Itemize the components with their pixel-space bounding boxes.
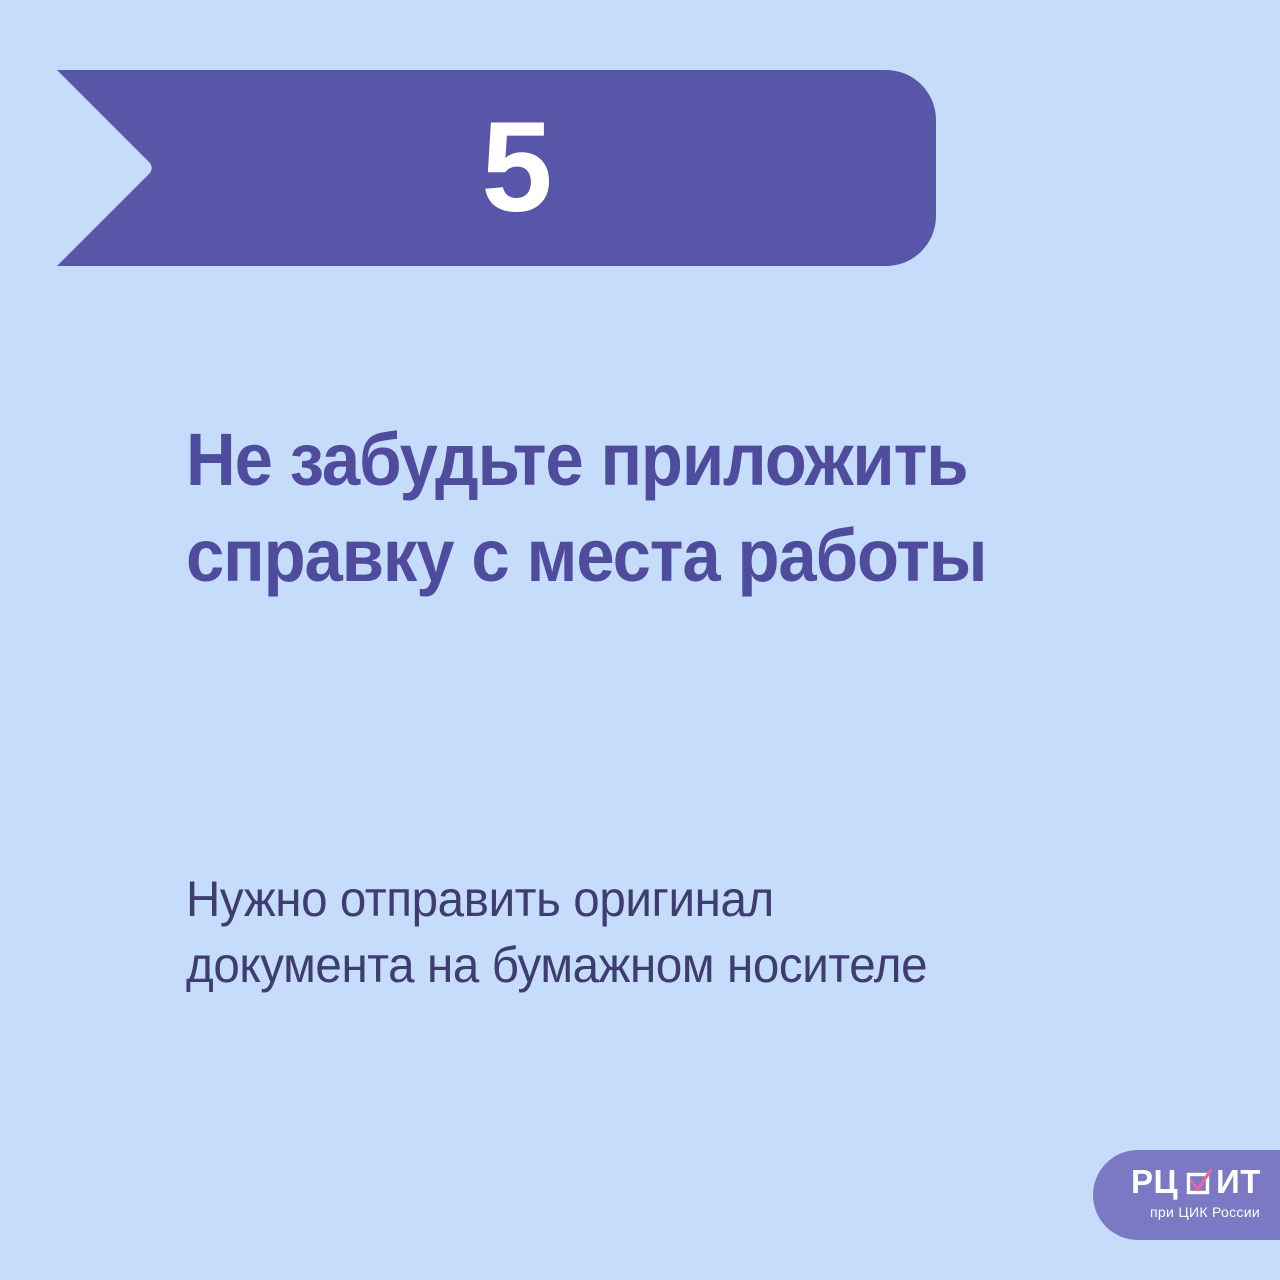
logo-wordmark-suffix: ИТ — [1216, 1164, 1261, 1200]
logo-wordmark: РЦ ИТ — [1131, 1164, 1279, 1200]
step-number-banner: 5 — [57, 70, 936, 266]
page-title-line-1: Не забудьте приложить — [186, 412, 1023, 508]
logo-tagline: при ЦИК России — [1131, 1203, 1279, 1221]
page-subtitle: Нужно отправить оригинал документа на бу… — [186, 866, 1079, 998]
page-title-line-2: справку с места работы — [186, 508, 1023, 604]
page-subtitle-line-2: документа на бумажном носителе — [186, 932, 1079, 998]
slide-canvas: 5 Не забудьте приложить справку с места … — [0, 0, 1280, 1280]
step-number: 5 — [57, 70, 936, 266]
ballot-checkbox-icon — [1186, 1169, 1212, 1195]
page-subtitle-line-1: Нужно отправить оригинал — [186, 866, 1079, 932]
logo-content: РЦ ИТ при ЦИК России — [1131, 1164, 1280, 1228]
logo-badge: РЦ ИТ при ЦИК России — [1093, 1150, 1280, 1240]
logo-wordmark-prefix: РЦ — [1131, 1164, 1178, 1200]
page-title: Не забудьте приложить справку с места ра… — [186, 412, 1023, 604]
